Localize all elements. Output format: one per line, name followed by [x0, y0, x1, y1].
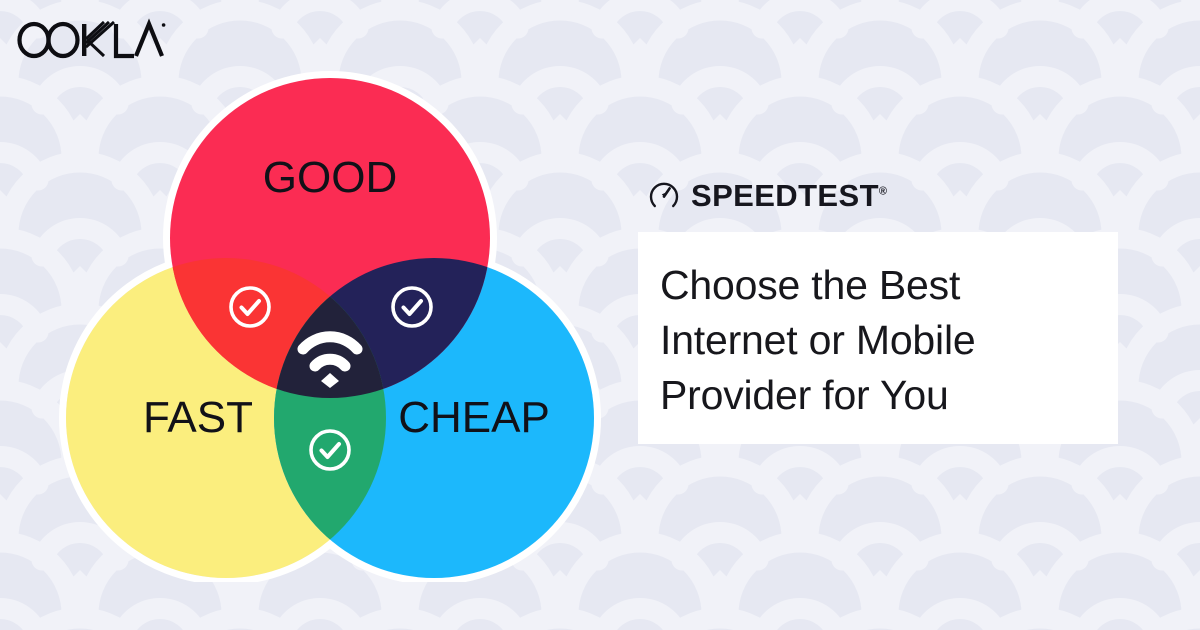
speedometer-gauge-icon: [648, 179, 680, 211]
ookla-logo: [16, 18, 166, 62]
right-content-column: SPEEDTEST® Choose the Best Internet or M…: [638, 172, 1120, 444]
registered-mark-dot: [162, 23, 166, 27]
speedtest-wordmark: SPEEDTEST®: [691, 180, 887, 211]
promo-graphic: GOOD FAST CHEAP: [0, 0, 1200, 630]
headline-line-1: Choose the Best: [660, 258, 1118, 313]
headline-line-3: Provider for You: [660, 368, 1118, 423]
venn-label-cheap: CHEAP: [398, 393, 550, 442]
venn-label-fast: FAST: [143, 393, 253, 442]
headline-card: Choose the Best Internet or Mobile Provi…: [638, 232, 1118, 444]
venn-label-good: GOOD: [263, 153, 397, 202]
headline-line-2: Internet or Mobile: [660, 313, 1118, 368]
speedtest-wordmark-text: SPEEDTEST: [691, 178, 879, 213]
speedtest-registered-mark: ®: [879, 185, 888, 197]
speedtest-logo-lockup: SPEEDTEST®: [648, 172, 1120, 218]
page-title: Choose the Best Internet or Mobile Provi…: [660, 258, 1118, 423]
good-fast-cheap-venn-diagram: GOOD FAST CHEAP: [50, 62, 610, 582]
